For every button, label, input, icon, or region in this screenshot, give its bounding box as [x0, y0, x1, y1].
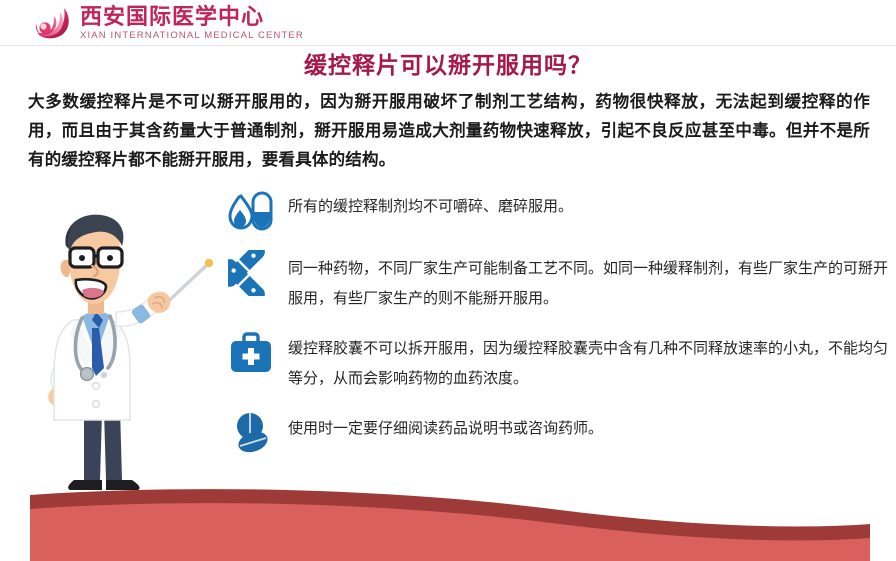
- cartoon-doctor-illustration: [12, 208, 224, 498]
- page-title: 缓控释片可以掰开服用吗？: [0, 50, 896, 80]
- logo-title-cn: 西安国际医学中心: [80, 4, 304, 30]
- phoenix-swirl-logo-icon: [30, 3, 72, 43]
- article-page: 西安国际医学中心 XIAN INTERNATIONAL MEDICAL CENT…: [0, 0, 896, 561]
- site-header: 西安国际医学中心 XIAN INTERNATIONAL MEDICAL CENT…: [0, 0, 896, 46]
- crossed-capsules-icon: [228, 250, 274, 296]
- list-item: 同一种药物，不同厂家生产可能制备工艺不同。如同一种缓释制剂，有些厂家生产的可掰开…: [228, 250, 888, 314]
- list-item: 缓控释胶囊不可以拆开服用，因为缓控释胶囊壳中含有几种不同释放速率的小丸，不能均匀…: [228, 330, 888, 394]
- list-item: 所有的缓控释制剂均不可嚼碎、磨碎服用。: [228, 188, 888, 234]
- list-item-text: 所有的缓控释制剂均不可嚼碎、磨碎服用。: [288, 188, 573, 222]
- header-divider: [0, 45, 896, 46]
- list-item: 使用时一定要仔细阅读药品说明书或咨询药师。: [228, 410, 888, 456]
- lead-paragraph: 大多数缓控释片是不可以掰开服用的，因为掰开服用破坏了制剂工艺结构，药物很快释放，…: [28, 88, 870, 175]
- bullet-list: 所有的缓控释制剂均不可嚼碎、磨碎服用。: [228, 188, 888, 472]
- bottom-wave-decoration: [0, 472, 896, 561]
- site-logo[interactable]: 西安国际医学中心 XIAN INTERNATIONAL MEDICAL CENT…: [30, 3, 304, 43]
- logo-title-en: XIAN INTERNATIONAL MEDICAL CENTER: [80, 30, 304, 42]
- first-aid-kit-icon: [228, 330, 274, 376]
- scored-tablets-icon: [228, 410, 274, 456]
- droplet-capsule-icon: [228, 188, 274, 234]
- list-item-text: 同一种药物，不同厂家生产可能制备工艺不同。如同一种缓释制剂，有些厂家生产的可掰开…: [288, 250, 888, 314]
- list-item-text: 缓控释胶囊不可以拆开服用，因为缓控释胶囊壳中含有几种不同释放速率的小丸，不能均匀…: [288, 330, 888, 394]
- logo-text-block: 西安国际医学中心 XIAN INTERNATIONAL MEDICAL CENT…: [80, 4, 304, 42]
- list-item-text: 使用时一定要仔细阅读药品说明书或咨询药师。: [288, 410, 603, 444]
